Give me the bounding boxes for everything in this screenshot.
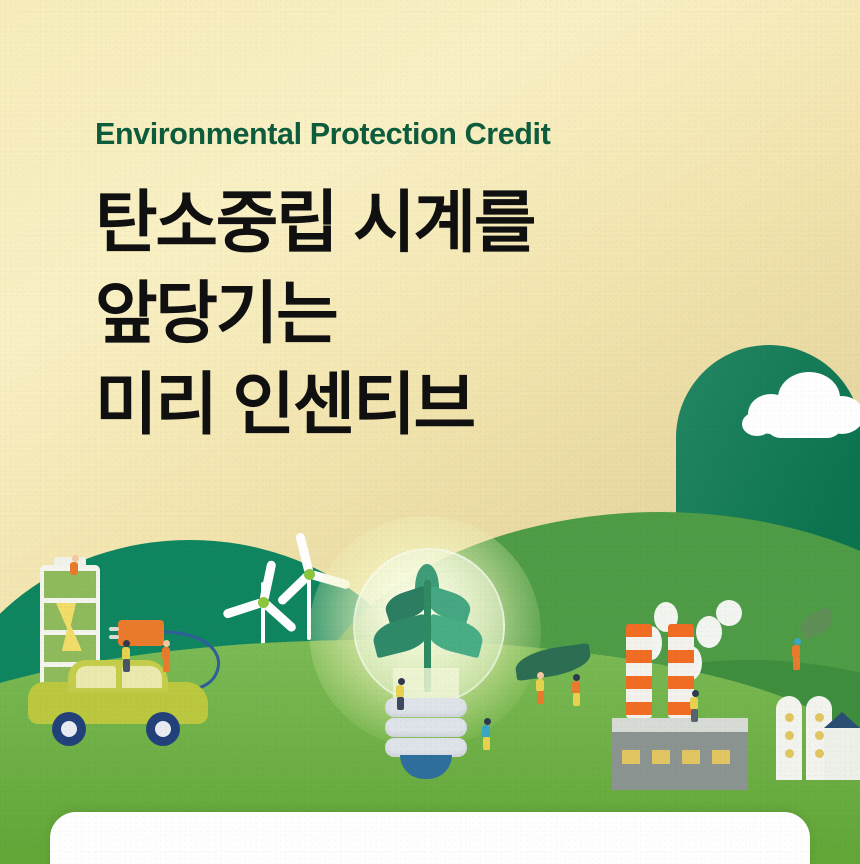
eyebrow-label: Environmental Protection Credit <box>95 118 550 152</box>
light-bulb-icon <box>345 548 505 778</box>
bottom-card-label: 신청하기 <box>50 856 810 864</box>
page-title: 탄소중립 시계를 앞당기는 미리 인센티브 <box>95 178 550 451</box>
headline-line-1: 탄소중립 시계를 <box>95 178 550 269</box>
silo-buildings-icon <box>776 660 860 780</box>
promo-banner: Environmental Protection Credit 탄소중립 시계를… <box>0 0 860 864</box>
factory-icon <box>612 630 748 790</box>
headline-line-2: 앞당기는 <box>95 269 550 360</box>
cloud-icon <box>742 372 860 444</box>
banner-text-block: Environmental Protection Credit 탄소중립 시계를… <box>95 118 550 451</box>
electric-car-icon <box>28 660 208 740</box>
headline-line-3: 미리 인센티브 <box>95 360 550 451</box>
bottom-card[interactable]: 신청하기 <box>50 812 810 864</box>
